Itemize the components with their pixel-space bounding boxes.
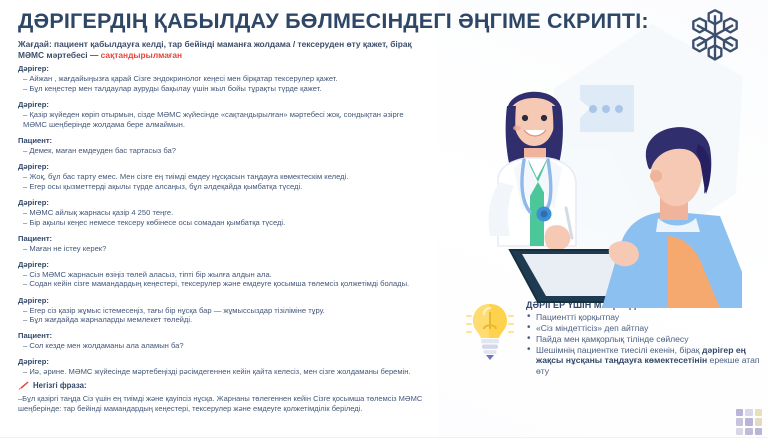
bottom-divider xyxy=(0,437,768,443)
dialogue-line: – МӘМС айлық жарнасы қазір 4 250 теңге. xyxy=(18,208,426,218)
speaker-label: Дәрігер: xyxy=(18,64,426,73)
dialogue-turn: Пациент: – Маған не істеу керек? xyxy=(18,234,426,254)
speaker-label: Дәрігер: xyxy=(18,162,426,171)
dialogue-line: – Егер осы қызметтерді ақылы түрде алсаң… xyxy=(18,182,426,192)
dot xyxy=(755,428,762,435)
speaker-label: Дәрігер: xyxy=(18,198,426,207)
dialogue-line: – Сол кезде мен жолдаманы ала аламын ба? xyxy=(18,341,426,351)
situation-highlight: сақтандырылмаған xyxy=(101,50,182,60)
patient-male-figure xyxy=(602,127,742,308)
list-item: «Сіз міндеттісіз» деп айтпау xyxy=(526,323,762,333)
dialogue-line: – Бір ақылы кеңес немесе тексеру көбінес… xyxy=(18,218,426,228)
key-phrase-body: –Бұл қазіргі таңда Сіз үшін ең тиімді жә… xyxy=(18,394,448,414)
dialogue-turn: Дәрігер: – МӘМС айлық жарнасы қазір 4 25… xyxy=(18,198,426,228)
dialogue-line: – Бұл жағдайда жарналарды мемлекет төлей… xyxy=(18,315,426,325)
dialogue-line: – Айжан , жағдайыңызға қарай Сізге эндок… xyxy=(18,74,426,84)
speaker-label: Дәрігер: xyxy=(18,357,426,366)
speaker-label: Дәрігер: xyxy=(18,260,426,269)
list-item: Шешімнің пациентке тиесілі екенін, бірақ… xyxy=(526,345,762,376)
lightbulb-icon xyxy=(462,298,518,370)
dialogue-line: – Содан кейін сізге мамандардың кеңестер… xyxy=(18,279,426,289)
dialogue-turn: Дәрігер: – Жоқ, бұл бас тарту емес. Мен … xyxy=(18,162,426,192)
speech-bubble-icon xyxy=(580,85,634,132)
dialogue-line: – Сіз МӘМС жарнасын өзіңіз төлей аласыз,… xyxy=(18,270,426,280)
key-phrase-heading: Негізгі фраза: xyxy=(18,381,448,390)
dialogue-line: – Бұл кеңестер мен талдаулар ауруды бақы… xyxy=(18,84,426,94)
speaker-label: Пациент: xyxy=(18,331,426,340)
doctor-patient-consultation-illustration xyxy=(452,60,742,308)
dot xyxy=(736,418,743,425)
situation-text: Жағдай: пациент қабылдауға келді, тар бе… xyxy=(18,39,412,60)
dialogue-turn: Дәрігер: – Айжан , жағдайыңызға қарай Сі… xyxy=(18,64,426,94)
dialogue-line: – Жоқ, бұл бас тарту емес. Мен сізге ең … xyxy=(18,172,426,182)
situation-description: Жағдай: пациент қабылдауға келді, тар бе… xyxy=(18,39,418,62)
dot xyxy=(745,428,752,435)
key-phrase-block: Негізгі фраза: –Бұл қазіргі таңда Сіз үш… xyxy=(18,381,448,414)
speaker-label: Пациент: xyxy=(18,234,426,243)
dot xyxy=(736,428,743,435)
list-item: Пациентті қорқытпау xyxy=(526,312,762,322)
dialogue-script: Дәрігер: – Айжан , жағдайыңызға қарай Сі… xyxy=(18,64,426,383)
dot xyxy=(755,418,762,425)
list-item: Пайда мен қамқорлық тілінде сөйлесу xyxy=(526,334,762,344)
dialogue-turn: Дәрігер: – Сіз МӘМС жарнасын өзіңіз төле… xyxy=(18,260,426,290)
dot xyxy=(755,409,762,416)
pen-icon xyxy=(18,381,29,390)
doctor-female-figure xyxy=(488,92,576,251)
bullet-text: Шешімнің пациентке тиесілі екенін, бірақ xyxy=(536,345,702,355)
dialogue-line: – Демек, маған емдеуден бас тартасыз ба? xyxy=(18,146,426,156)
dialogue-turn: Дәрігер: – Иә, әрине. МӘМС жүйесінде мәр… xyxy=(18,357,426,377)
key-phrase-title: Негізгі фраза: xyxy=(33,381,87,390)
dialogue-line: – Маған не істеу керек? xyxy=(18,244,426,254)
speaker-label: Дәрігер: xyxy=(18,100,426,109)
dot xyxy=(745,409,752,416)
dialogue-turn: Дәрігер: – Егер сіз қазір жұмыс істемесе… xyxy=(18,296,426,326)
dialogue-turn: Дәрігер: – Қазір жүйеден көріп отырмын, … xyxy=(18,100,426,130)
bullet-text: «Сіз міндеттісіз» деп айтпау xyxy=(536,323,648,333)
bullet-text: Пайда мен қамқорлық тілінде сөйлесу xyxy=(536,334,689,344)
dialogue-line: – Қазір жүйеден көріп отырмын, сізде МӘМ… xyxy=(18,110,426,130)
important-bullet-list: Пациентті қорқытпау «Сіз міндеттісіз» де… xyxy=(526,312,762,376)
dialogue-line: – Егер сіз қазір жұмыс істемесеңіз, тағы… xyxy=(18,306,426,316)
important-for-doctor-block: ДӘРІГЕР ҮШІН МАҢЫЗДЫ: Пациентті қорқытпа… xyxy=(462,296,762,377)
company-flower-logo xyxy=(686,8,744,64)
dot xyxy=(745,418,752,425)
dialogue-line: – Иә, әрине. МӘМС жүйесінде мәртебеңізді… xyxy=(18,367,426,377)
dialogue-turn: Пациент: – Сол кезде мен жолдаманы ала а… xyxy=(18,331,426,351)
important-text-column: ДӘРІГЕР ҮШІН МАҢЫЗДЫ: Пациентті қорқытпа… xyxy=(526,296,762,377)
dot xyxy=(736,409,743,416)
page-title: ДӘРІГЕРДІҢ ҚАБЫЛДАУ БӨЛМЕСІНДЕГІ ӘҢГІМЕ … xyxy=(18,10,658,34)
bullet-text: Пациентті қорқытпау xyxy=(536,312,619,322)
speaker-label: Пациент: xyxy=(18,136,426,145)
slide-canvas: ДӘРІГЕРДІҢ ҚАБЫЛДАУ БӨЛМЕСІНДЕГІ ӘҢГІМЕ … xyxy=(0,0,768,443)
dialogue-turn: Пациент: – Демек, маған емдеуден бас тар… xyxy=(18,136,426,156)
speaker-label: Дәрігер: xyxy=(18,296,426,305)
dot-grid xyxy=(736,409,762,435)
